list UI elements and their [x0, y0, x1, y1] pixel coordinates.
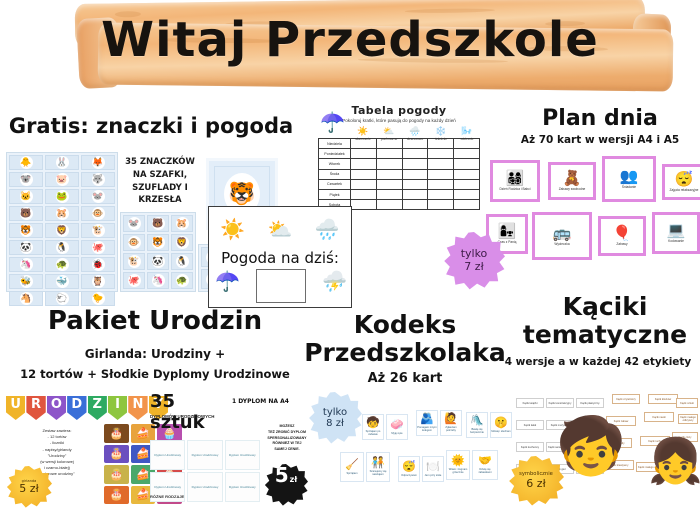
- sticker-note-line: SZUFLADY I KRZESŁA: [120, 182, 200, 208]
- kodeks-card-caption: Sprzątam: [346, 472, 357, 475]
- weather-icon-2: 🌧️: [315, 217, 340, 242]
- diplomas-label: DYPLOMÓW URODZINOWYCH: [150, 414, 260, 419]
- umbrella-icon: ☂️: [215, 269, 240, 294]
- sticker-cell: 🐧: [45, 240, 79, 255]
- weather-condition-label: wietrznie: [454, 137, 480, 141]
- kodeks-card-caption: Bawię się bezpiecznie: [467, 428, 487, 434]
- kodeks-card-icon: 😴: [402, 462, 416, 473]
- sticker-cell: 🐙: [123, 272, 145, 289]
- heading-kaciki-line2: tematyczne: [510, 322, 700, 348]
- kodeks-card-caption: Zgłaszam potrzeby: [441, 426, 461, 432]
- badge-kodeks: tylko 8 zł: [308, 392, 362, 444]
- plan-dnia-card-icon: 👩‍👧: [498, 224, 517, 239]
- subheading-plan-dnia: Aż 70 kart w wersji A4 i A5: [498, 134, 700, 146]
- sticker-cell: 🐹: [171, 215, 193, 232]
- plan-dnia-card-icon: 😴: [675, 172, 694, 187]
- badge-plan-dnia-line2: 7 zł: [464, 261, 483, 274]
- kodeks-card-caption: Szanujemy się nawzajem: [367, 470, 389, 476]
- promo-collage: Witaj Przedszkole Gratis: znaczki i pogo…: [0, 0, 700, 509]
- sticker-cell: 🐭: [81, 189, 115, 204]
- sticker-cell: 🐙: [81, 240, 115, 255]
- kodeks-card-icon: 🌞: [451, 456, 465, 467]
- kodeks-card-caption: Jem przy stole: [425, 474, 442, 477]
- storm-cloud-icon: ⛈️: [322, 269, 347, 294]
- kacik-label[interactable]: Kącik małego odkrywcy: [678, 414, 698, 424]
- badge-kodeks-line1: tylko: [323, 407, 347, 419]
- kacik-label[interactable]: Kącik lalek: [516, 420, 544, 430]
- weather-cell[interactable]: [377, 149, 403, 159]
- sticker-count-note: 35 ZNACZKÓWNA SZAFKI,SZUFLADY I KRZESŁA: [120, 156, 200, 207]
- sticker-cell: 🐸: [45, 189, 79, 204]
- kodeks-card-caption: Myję ręce: [391, 432, 402, 435]
- header-banner: Witaj Przedszkole: [0, 0, 700, 98]
- kodeks-card[interactable]: 😴Odpoczywam: [398, 456, 420, 482]
- kodeks-card-icon: 🫂: [420, 414, 434, 425]
- weather-cell[interactable]: [403, 170, 429, 180]
- heading-gratis: Gratis: znaczki i pogoda: [6, 116, 296, 137]
- kacik-label[interactable]: Kącik konstrukcyjny: [546, 398, 574, 408]
- weather-today-dropzone[interactable]: [256, 269, 306, 303]
- sticker-cell: 🐰: [45, 155, 79, 170]
- weather-condition-wietrznie: 🌬️wietrznie: [454, 126, 480, 141]
- weather-condition-śnieżnie: ❄️śnieżnie: [428, 126, 454, 141]
- weather-cell[interactable]: [403, 159, 429, 169]
- weather-cell[interactable]: [454, 200, 480, 210]
- weather-icon-1: ⛅: [268, 217, 293, 242]
- cake-card: 🎂: [104, 486, 129, 505]
- garland-flag: R: [26, 396, 45, 420]
- weather-condition-label: śnieżnie: [428, 137, 454, 141]
- weather-kids-icon: ☂️: [320, 110, 345, 135]
- sticker-cell: 🐮: [123, 253, 145, 270]
- sticker-cell: 🐳: [45, 274, 79, 289]
- weather-cell[interactable]: [428, 190, 454, 200]
- sticker-cell: 🐢: [171, 272, 193, 289]
- sticker-cell: 🐭: [123, 215, 145, 232]
- diploma-card: Dyplom Urodzinowy: [225, 472, 260, 502]
- weather-today-card: ☀️⛅🌧️ Pogoda na dziś: ☂️ ⛈️: [208, 206, 352, 308]
- sticker-cell: 🐼: [147, 253, 169, 270]
- weather-condition-słonecznie: ☀️słonecznie: [350, 126, 376, 141]
- weather-condition-label: słonecznie: [350, 137, 376, 141]
- weather-day-label: Wtorek: [319, 159, 351, 169]
- weather-cell[interactable]: [377, 159, 403, 169]
- weather-cell[interactable]: [377, 180, 403, 190]
- sticker-cell: 🦄: [9, 257, 43, 272]
- weather-condition-headers: ☀️słonecznie⛅pochmurno🌧️deszczowo❄️śnież…: [350, 126, 480, 141]
- garland-flag: U: [6, 396, 25, 420]
- diplomas-bottom-note: RÓŻNE RODZAJE: [150, 494, 220, 499]
- weather-day-label: Środa: [319, 170, 351, 180]
- sticker-sheet-main: 🐥🐰🦊🐨🐷🐺🐱🐸🐭🐻🐹🐵🐯🦁🐮🐼🐧🐙🦄🐢🐞🐝🐳🦉🐴🐑🐤: [6, 152, 118, 292]
- cake-card: 🎂: [104, 445, 129, 464]
- kodeks-card[interactable]: 🧹Sprzątam: [340, 452, 364, 482]
- kodeks-card-caption: Pomagam innym kolegom: [417, 426, 437, 432]
- kodeks-card[interactable]: 🤝Dzielę się zabawkami: [472, 450, 498, 480]
- garland-flag: O: [47, 396, 66, 420]
- kacik-label[interactable]: Kącik klocków: [648, 394, 678, 404]
- kodeks-card-icon: 🧑‍🤝‍🧑: [371, 458, 385, 469]
- badge-diplomas-line1: 5: [275, 464, 289, 487]
- plan-dnia-card-icon: 👨‍👩‍👧‍👦: [506, 171, 525, 186]
- plan-dnia-card-caption: Zajęcia relaksacyjne: [670, 188, 699, 192]
- kodeks-card-caption: Mówię i słucham: [491, 430, 510, 433]
- diplomas-a4-note: 1 DYPLOM NA A4: [232, 398, 302, 405]
- plan-dnia-card[interactable]: 🎈Zabawy: [598, 216, 646, 256]
- kodeks-card-icon: 🍽️: [426, 462, 440, 473]
- weather-cell[interactable]: [351, 149, 377, 159]
- sticker-cell: 🐨: [9, 172, 43, 187]
- cake-card: 🎂: [104, 465, 129, 484]
- weather-today-icons-top: ☀️⛅🌧️: [209, 217, 351, 242]
- sticker-cell: 🦄: [147, 272, 169, 289]
- badge-kodeks-line2: 8 zł: [326, 418, 344, 430]
- garland-flag: I: [108, 396, 127, 420]
- sticker-sheet-secondary: 🐭🐻🐹🐵🐯🦁🐮🐼🐧🐙🦄🐢: [120, 212, 196, 292]
- kacik-label[interactable]: Kącik książki: [516, 398, 544, 408]
- heading-kodeks-line2: Przedszkolaka: [300, 340, 510, 366]
- weather-cell[interactable]: [351, 170, 377, 180]
- plan-dnia-card-icon: 🚌: [553, 226, 572, 241]
- kacik-label[interactable]: Kącik kuchenny: [516, 442, 544, 452]
- sticker-cell: 🐷: [45, 172, 79, 187]
- diploma-card: Dyplom Urodzinowy: [150, 440, 185, 470]
- weather-cell[interactable]: [454, 159, 480, 169]
- plan-dnia-card[interactable]: 💻Kodowanie: [652, 212, 700, 254]
- weather-cell[interactable]: [454, 180, 480, 190]
- weather-cell[interactable]: [351, 159, 377, 169]
- kodeks-card-caption: Sprzątam po zabawie: [363, 430, 383, 436]
- plan-dnia-card[interactable]: 👥Śniadanie: [602, 156, 656, 202]
- plan-dnia-card[interactable]: 🚌Wycieczka: [532, 212, 592, 260]
- diploma-note-line: TEŻ ZROBIĆ DYPLOM: [264, 430, 310, 436]
- plan-dnia-card[interactable]: 🧸Zabawy swobodne: [548, 162, 596, 200]
- sticker-cell: 🐑: [45, 291, 79, 306]
- plan-dnia-card-caption: Kodowanie: [668, 239, 684, 243]
- subheading-kodeks: Aż 26 kart: [320, 372, 490, 387]
- sticker-note-line: 35 ZNACZKÓW: [120, 156, 200, 169]
- sticker-cell: 🐺: [81, 172, 115, 187]
- sticker-cell: 🐯: [9, 223, 43, 238]
- sticker-note-line: NA SZAFKI,: [120, 169, 200, 182]
- kodeks-card-icon: 🛝: [470, 416, 484, 427]
- weather-day-label: Piątek: [319, 190, 351, 200]
- heading-kodeks-line1: Kodeks: [310, 312, 500, 338]
- sticker-cell: 🐼: [9, 240, 43, 255]
- plan-dnia-card-caption: Zabawy: [616, 242, 627, 246]
- weather-cell[interactable]: [428, 180, 454, 190]
- plan-dnia-card-icon: 👥: [620, 169, 639, 184]
- weather-cell[interactable]: [377, 200, 403, 210]
- kacik-label[interactable]: Kącik czytelniczy: [612, 394, 640, 404]
- kodeks-card[interactable]: 🫂Pomagam innym kolegom: [416, 410, 438, 436]
- sticker-cell: 🐻: [147, 215, 169, 232]
- weather-day-label: Czwartek: [319, 180, 351, 190]
- kodeks-card[interactable]: 🙋Zgłaszam potrzeby: [440, 410, 462, 436]
- plan-dnia-card-caption: Śniadanie: [622, 185, 636, 189]
- kodeks-card[interactable]: 🧒Sprzątam po zabawie: [362, 414, 384, 440]
- garland-flag: N: [128, 396, 147, 420]
- sticker-cell: 🐧: [171, 253, 193, 270]
- weather-day-label: Niedziela: [319, 139, 351, 149]
- sticker-cell: 🐵: [123, 234, 145, 251]
- weather-condition-label: deszczowo: [402, 137, 428, 141]
- sticker-cell: 🐯: [147, 234, 169, 251]
- sticker-cell: 🐴: [9, 291, 43, 306]
- garland-flag: D: [67, 396, 86, 420]
- badge-diplomas-price: 5 zł: [264, 464, 308, 506]
- kodeks-card[interactable]: 🛝Bawię się bezpiecznie: [466, 412, 488, 438]
- weather-cell[interactable]: [428, 159, 454, 169]
- weather-cell[interactable]: [377, 170, 403, 180]
- kodeks-card-caption: Dzielę się zabawkami: [473, 468, 497, 474]
- badge-garland-line2: 5 zł: [19, 483, 38, 496]
- sticker-cell: 🐵: [81, 206, 115, 221]
- weather-cell[interactable]: [351, 200, 377, 210]
- badge-diplomas-line2: zł: [290, 475, 298, 484]
- weather-cell[interactable]: [454, 170, 480, 180]
- weather-condition-label: pochmurno: [376, 137, 402, 141]
- weather-condition-pochmurno: ⛅pochmurno: [376, 126, 402, 141]
- sticker-cell: 🐤: [81, 291, 115, 306]
- kodeks-card[interactable]: 🧼Myję ręce: [386, 414, 408, 440]
- heading-pakiet-urodzin: Pakiet Urodzin: [30, 308, 280, 335]
- sticker-cell: 🐹: [45, 206, 79, 221]
- plan-dnia-card-icon: 🎈: [613, 226, 632, 241]
- subheading-kaciki: 4 wersje a w każdej 42 etykiety: [496, 356, 700, 368]
- kacik-label[interactable]: Kącik sztuki: [676, 398, 698, 408]
- weather-icon-0: ☀️: [220, 217, 245, 242]
- pakiet-line1: Girlanda: Urodziny +: [30, 348, 280, 362]
- sticker-cell: 🦊: [81, 155, 115, 170]
- kodeks-card[interactable]: 🍽️Jem przy stole: [422, 456, 444, 482]
- boy-with-books-icon: 🧒: [556, 418, 626, 474]
- weather-cell[interactable]: [428, 170, 454, 180]
- weather-cell[interactable]: [351, 190, 377, 200]
- sticker-cell: 🐮: [81, 223, 115, 238]
- sticker-cell: 🦉: [81, 274, 115, 289]
- weather-cell[interactable]: [403, 190, 429, 200]
- kodeks-card-caption: Odpoczywam: [401, 474, 417, 477]
- plan-dnia-card-caption: Zabawy swobodne: [559, 187, 586, 191]
- girl-playing-icon: 👧: [648, 440, 700, 484]
- weather-cell[interactable]: [428, 200, 454, 210]
- diploma-note-line: SAMEJ CENIE.: [264, 447, 310, 453]
- plan-dnia-card-icon: 💻: [667, 223, 686, 238]
- pakiet-line2: 12 tortów + Słodkie Dyplomy Urodzinowe: [8, 368, 302, 381]
- weather-day-label: Poniedziałek: [319, 149, 351, 159]
- sticker-cell: 🦁: [171, 234, 193, 251]
- plan-dnia-card-icon: 🧸: [563, 171, 582, 186]
- kodeks-card[interactable]: 🌞Witam i żegnam grzecznie: [446, 450, 470, 480]
- sticker-cell: 🐝: [9, 274, 43, 289]
- kodeks-card-icon: 🧹: [345, 460, 359, 471]
- weather-condition-deszczowo: 🌧️deszczowo: [402, 126, 428, 141]
- plan-dnia-card-caption: Wycieczka: [554, 242, 569, 246]
- diploma-card: Dyplom Urodzinowy: [225, 440, 260, 470]
- kodeks-card-icon: 🤫: [494, 418, 508, 429]
- diploma-card: Dyplom Urodzinowy: [187, 440, 222, 470]
- cake-card: 🎂: [104, 424, 129, 443]
- weather-cell[interactable]: [351, 180, 377, 190]
- plan-dnia-card[interactable]: 👨‍👩‍👧‍👦Dzień Rodzica i Babci: [490, 160, 540, 202]
- weather-cell[interactable]: [454, 190, 480, 200]
- weather-cell[interactable]: [403, 200, 429, 210]
- sticker-cell: 🦁: [45, 223, 79, 238]
- weather-cell[interactable]: [454, 149, 480, 159]
- weather-today-title: Pogoda na dziś:: [209, 249, 351, 267]
- kodeks-card-icon: 🤝: [478, 456, 492, 467]
- diplomas-grid: Dyplom UrodzinowyDyplom UrodzinowyDyplom…: [150, 440, 260, 502]
- kacik-label[interactable]: Kącik plastyczny: [576, 398, 604, 408]
- plan-dnia-card-caption: Dzień Rodzica i Babci: [499, 187, 530, 191]
- weather-cell[interactable]: [428, 149, 454, 159]
- sticker-cell: 🐢: [45, 257, 79, 272]
- plan-dnia-card[interactable]: 😴Zajęcia relaksacyjne: [662, 164, 700, 200]
- kodeks-card[interactable]: 🧑‍🤝‍🧑Szanujemy się nawzajem: [366, 452, 390, 482]
- weather-cell[interactable]: [403, 180, 429, 190]
- sticker-cell: 🐥: [9, 155, 43, 170]
- diplomas-note: MOŻESZTEŻ ZROBIĆ DYPLOMSPERSONALIZOWANYR…: [264, 424, 310, 453]
- heading-kaciki-line1: Kąciki: [520, 294, 690, 320]
- kodeks-card[interactable]: 🤫Mówię i słucham: [490, 412, 512, 438]
- kodeks-card-icon: 🧒: [366, 418, 380, 429]
- heading-plan-dnia: Plan dnia: [500, 108, 700, 130]
- weather-cell[interactable]: [377, 190, 403, 200]
- sticker-cell: 🐞: [81, 257, 115, 272]
- diplomas-quantity: 35 sztuk: [150, 392, 230, 433]
- weather-cell[interactable]: [403, 149, 429, 159]
- badge-kaciki-line2: 6 zł: [526, 478, 545, 491]
- page-title: Witaj Przedszkole: [0, 12, 700, 68]
- kodeks-card-caption: Witam i żegnam grzecznie: [447, 468, 469, 474]
- garland-flag: Z: [88, 396, 107, 420]
- sticker-cell: 🐱: [9, 189, 43, 204]
- kodeks-card-icon: 🧼: [390, 420, 404, 431]
- sticker-cell: 🐻: [9, 206, 43, 221]
- garland-urodziny: URODZINY: [6, 396, 168, 424]
- kodeks-card-icon: 🙋: [444, 414, 458, 425]
- kacik-label[interactable]: Kącik nauki: [644, 412, 674, 422]
